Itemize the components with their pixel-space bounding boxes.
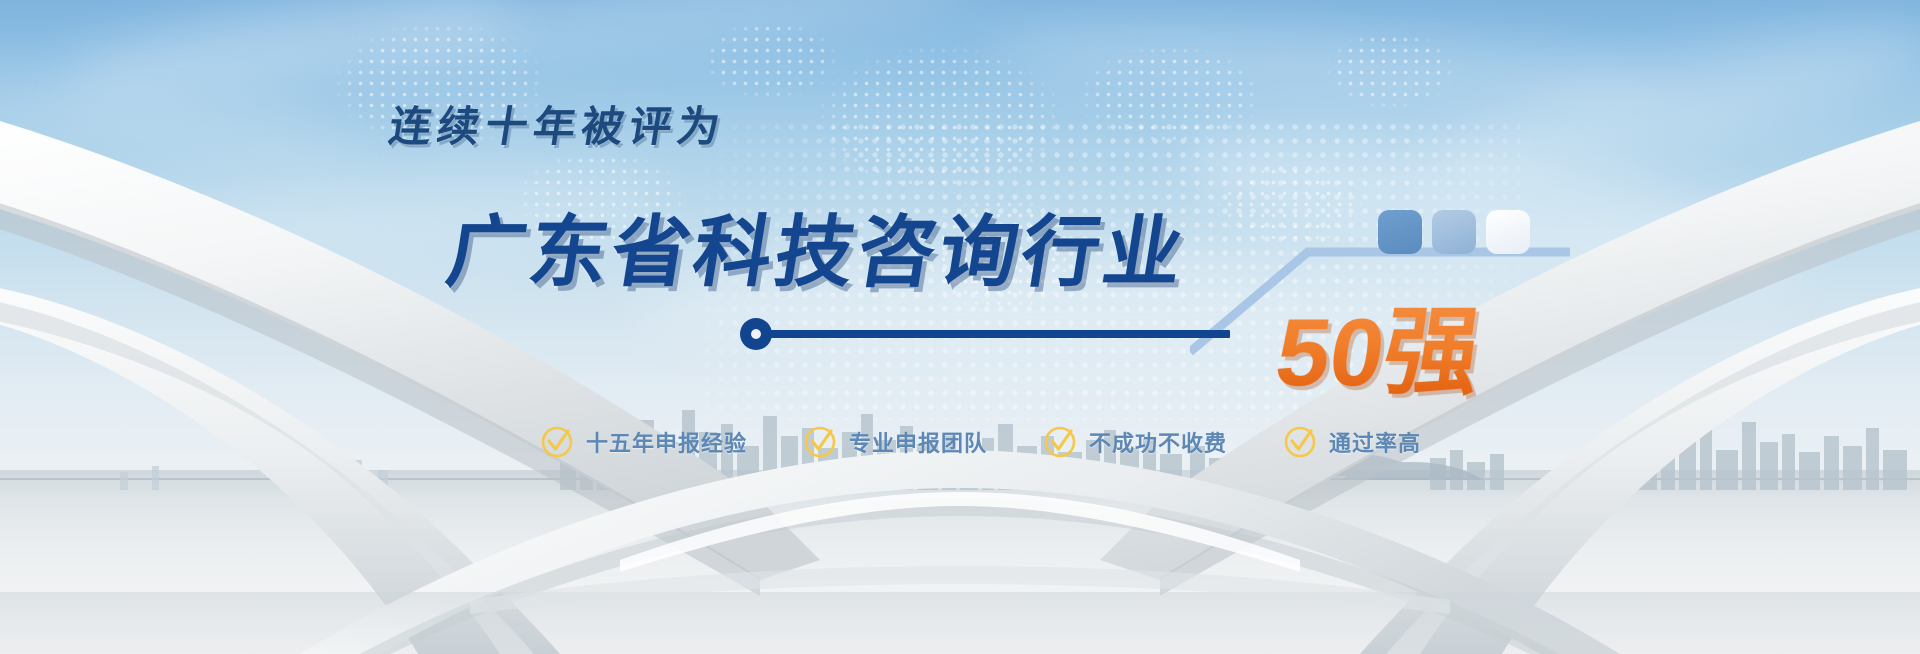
feature-item: 通过率高 — [1283, 425, 1421, 459]
promo-banner: 连续十年被评为 广东省科技咨询行业 50强 十五年申报经验 专业申报团队 — [0, 0, 1920, 654]
check-circle-icon — [540, 425, 574, 459]
check-circle-icon — [803, 425, 837, 459]
square-solid-blue — [1378, 210, 1422, 254]
square-mid-blue — [1432, 210, 1476, 254]
lead-dot-marker — [740, 318, 772, 350]
feature-item: 十五年申报经验 — [540, 425, 747, 459]
eyebrow-text: 连续十年被评为 — [385, 93, 731, 154]
feature-label: 专业申报团队 — [849, 426, 987, 458]
decorative-squares — [1378, 210, 1530, 254]
square-white — [1486, 210, 1530, 254]
check-circle-icon — [1283, 425, 1317, 459]
feature-list: 十五年申报经验 专业申报团队 不成功不收费 — [540, 425, 1421, 459]
feature-label: 通过率高 — [1329, 426, 1421, 458]
feature-label: 不成功不收费 — [1089, 426, 1227, 458]
lead-rule — [770, 330, 1230, 338]
headline-text: 广东省科技咨询行业 — [442, 213, 1192, 291]
check-circle-icon — [1043, 425, 1077, 459]
feature-label: 十五年申报经验 — [586, 426, 747, 458]
rank-badge-text: 50强 — [1270, 305, 1486, 401]
banner-content: 连续十年被评为 广东省科技咨询行业 50强 十五年申报经验 专业申报团队 — [0, 0, 1920, 654]
feature-item: 不成功不收费 — [1043, 425, 1227, 459]
feature-item: 专业申报团队 — [803, 425, 987, 459]
